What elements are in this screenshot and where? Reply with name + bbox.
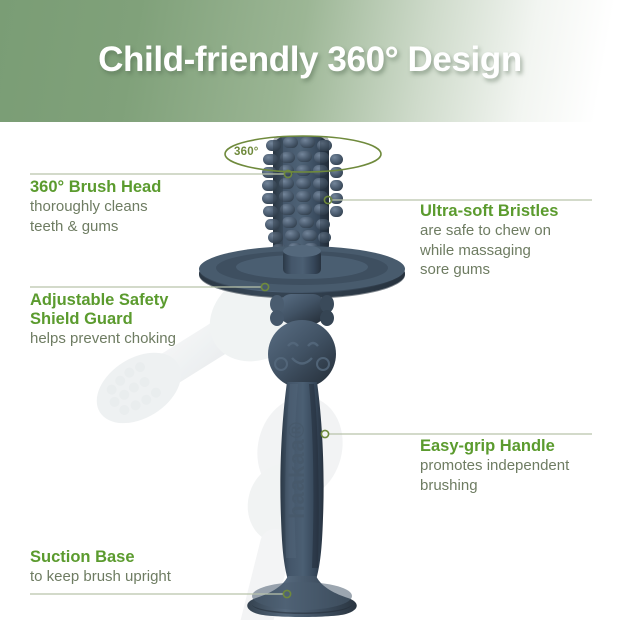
callout-line-bristles-3: sore gums xyxy=(420,261,558,280)
callout-line-handle-2: brushing xyxy=(420,477,569,496)
callout-title-handle: Easy-grip Handle xyxy=(420,437,569,456)
callout-line-bristles-2: while massaging xyxy=(420,242,558,261)
callout-title-shield-guard-1: Adjustable Safety xyxy=(30,291,176,310)
callout-title-suction-base: Suction Base xyxy=(30,548,171,567)
callout-line-shield-guard-1: helps prevent choking xyxy=(30,330,176,349)
callout-title-shield-guard-2: Shield Guard xyxy=(30,310,176,329)
callout-title-brush-head: 360° Brush Head xyxy=(30,178,161,197)
callout-line-suction-base-1: to keep brush upright xyxy=(30,568,171,587)
callout-brush-head: 360° Brush Head thoroughly cleans teeth … xyxy=(30,178,161,236)
brand-logo-text: haakaa® xyxy=(284,421,309,519)
callout-shield-guard: Adjustable Safety Shield Guard helps pre… xyxy=(30,291,176,349)
handle: haakaa® xyxy=(280,382,323,580)
callout-line-brush-head-1: thoroughly cleans xyxy=(30,198,161,217)
callout-line-bristles-1: are safe to chew on xyxy=(420,222,558,241)
callout-handle: Easy-grip Handle promotes independent br… xyxy=(420,437,569,495)
shield-guard-disc xyxy=(199,245,405,299)
infographic-canvas: Child-friendly 360° Design xyxy=(0,0,620,620)
callout-suction-base: Suction Base to keep brush upright xyxy=(30,548,171,587)
callout-line-brush-head-2: teeth & gums xyxy=(30,218,161,237)
callout-title-bristles: Ultra-soft Bristles xyxy=(420,202,558,221)
brush-head xyxy=(262,136,343,258)
rotation-degree-label: 360° xyxy=(234,146,259,158)
page-title: Child-friendly 360° Design xyxy=(0,40,620,80)
callout-line-handle-1: promotes independent xyxy=(420,457,569,476)
callout-bristles: Ultra-soft Bristles are safe to chew on … xyxy=(420,202,558,280)
grip-beads xyxy=(268,294,336,388)
